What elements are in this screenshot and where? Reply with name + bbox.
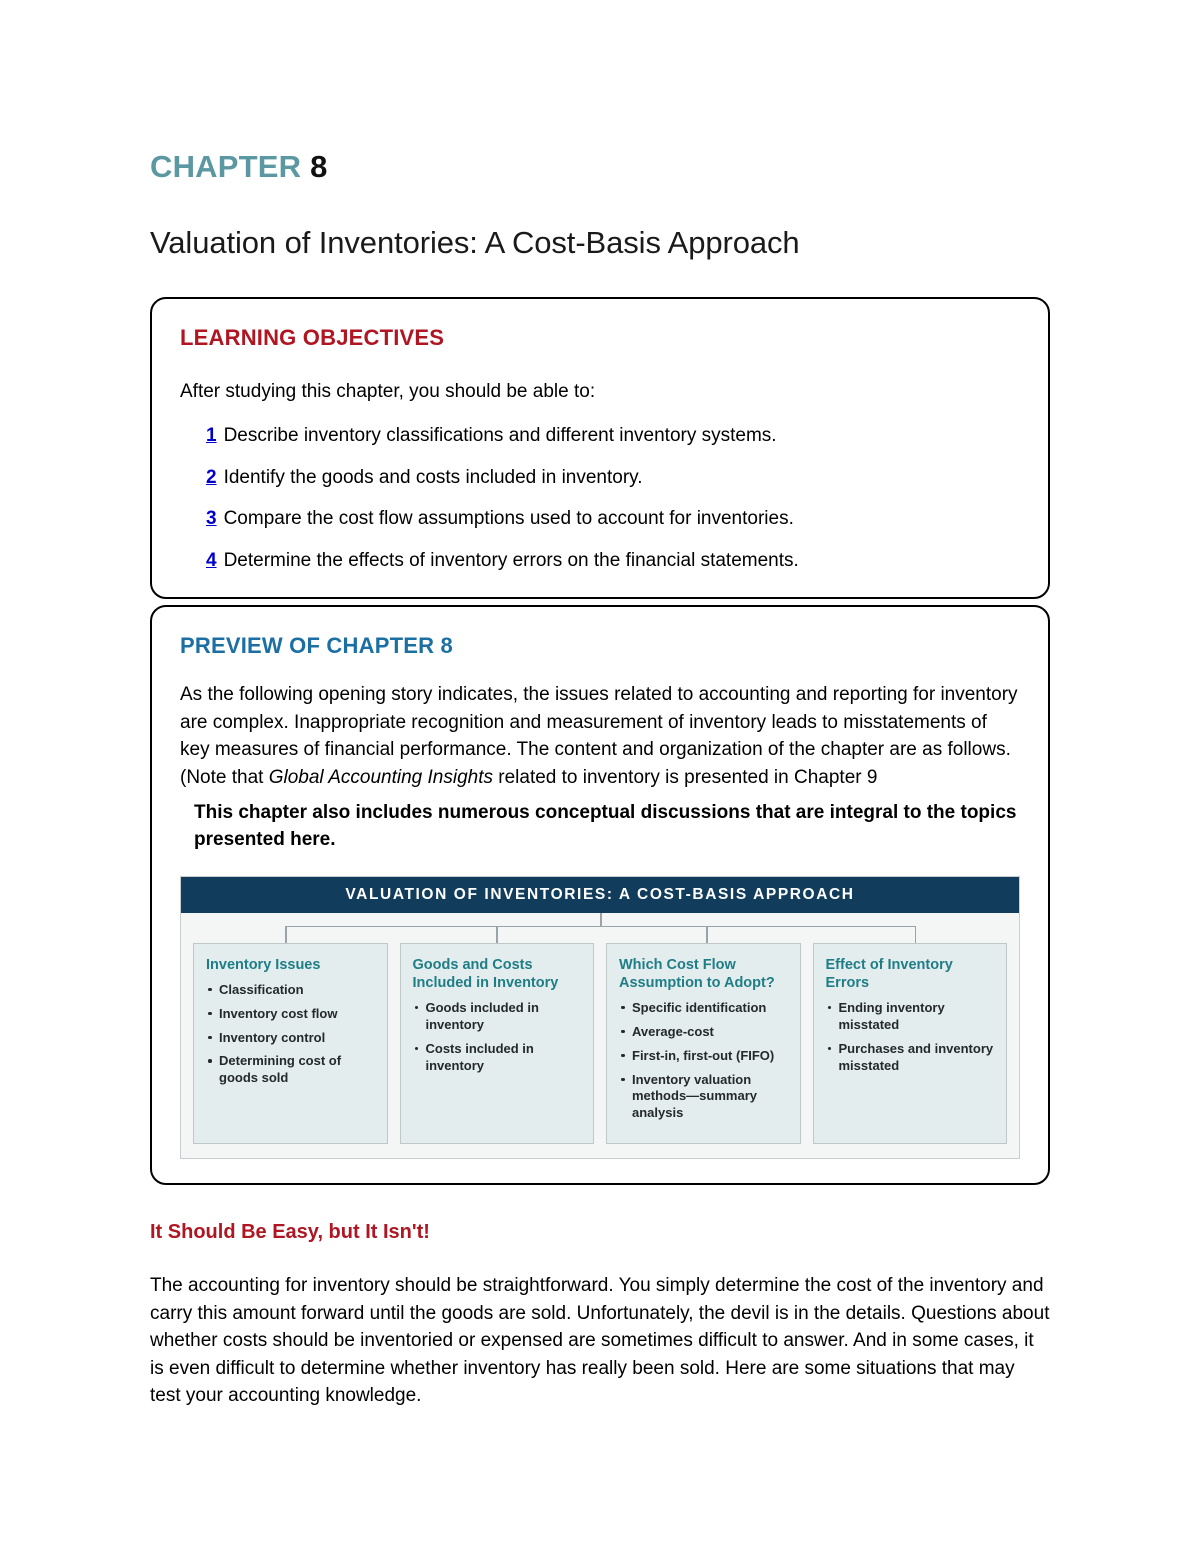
diagram-box-title: Goods and Costs Included in Inventory [413, 956, 582, 992]
diagram-box-list: Goods included in inventory Costs includ… [413, 1000, 582, 1075]
diagram-box-cost-flow-assumption: Which Cost Flow Assumption to Adopt? Spe… [606, 943, 801, 1145]
page-title: Valuation of Inventories: A Cost-Basis A… [150, 224, 1050, 261]
connector-stem [600, 913, 602, 927]
preview-bold-note: This chapter also includes numerous conc… [194, 799, 1020, 854]
diagram-box-inventory-errors: Effect of Inventory Errors Ending invent… [813, 943, 1008, 1145]
diagram-box-list: Specific identification Average-cost Fir… [619, 1000, 788, 1122]
chapter-flow-diagram: VALUATION OF INVENTORIES: A COST-BASIS A… [180, 876, 1020, 1160]
connector-horizontal-bar [285, 926, 915, 928]
list-item: Determining cost of goods sold [206, 1053, 375, 1087]
learning-objectives-panel: LEARNING OBJECTIVES After studying this … [150, 297, 1050, 599]
chapter-number: 8 [310, 149, 327, 184]
list-item: Costs included in inventory [413, 1041, 582, 1075]
diagram-box-title: Which Cost Flow Assumption to Adopt? [619, 956, 788, 992]
learning-objectives-intro: After studying this chapter, you should … [180, 379, 1020, 405]
list-item: Inventory valuation methods—summary anal… [619, 1072, 788, 1123]
chapter-label: CHAPTER [150, 149, 301, 184]
preview-text-italic: Global Accounting Insights [269, 767, 493, 788]
list-item: Classification [206, 982, 375, 999]
list-item: Ending inventory misstated [826, 1000, 995, 1034]
connector-drop-2 [496, 926, 498, 943]
objective-text: Describe inventory classifications and d… [224, 423, 777, 449]
diagram-box-list: Ending inventory misstated Purchases and… [826, 1000, 995, 1075]
connector-drop-4 [915, 926, 917, 943]
document-page: CHAPTER 8 Valuation of Inventories: A Co… [0, 0, 1200, 1553]
diagram-header-bar: VALUATION OF INVENTORIES: A COST-BASIS A… [181, 877, 1019, 913]
list-item: Goods included in inventory [413, 1000, 582, 1034]
learning-objective-item: 2 Identify the goods and costs included … [206, 465, 1020, 491]
list-item: Purchases and inventory misstated [826, 1041, 995, 1075]
list-item: Specific identification [619, 1000, 788, 1017]
diagram-box-list: Classification Inventory cost flow Inven… [206, 982, 375, 1087]
learning-objective-item: 1 Describe inventory classifications and… [206, 423, 1020, 449]
connector-drop-1 [285, 926, 287, 943]
diagram-box-title: Inventory Issues [206, 956, 375, 974]
objective-number: 3 [206, 506, 217, 532]
chapter-heading: CHAPTER 8 [150, 150, 1050, 184]
objective-text: Compare the cost flow assumptions used t… [224, 506, 794, 532]
learning-objectives-list: 1 Describe inventory classifications and… [180, 423, 1020, 574]
diagram-box-inventory-issues: Inventory Issues Classification Inventor… [193, 943, 388, 1145]
list-item: Inventory control [206, 1030, 375, 1047]
preview-heading: PREVIEW OF CHAPTER 8 [180, 633, 1020, 659]
objective-text: Identify the goods and costs included in… [224, 465, 643, 491]
connector-drop-3 [706, 926, 708, 943]
list-item: Average-cost [619, 1024, 788, 1041]
objective-number: 1 [206, 423, 217, 449]
preview-panel: PREVIEW OF CHAPTER 8 As the following op… [150, 605, 1050, 1185]
story-paragraph: The accounting for inventory should be s… [150, 1272, 1050, 1410]
objective-text: Determine the effects of inventory error… [224, 548, 799, 574]
list-item: Inventory cost flow [206, 1006, 375, 1023]
learning-objective-item: 3 Compare the cost flow assumptions used… [206, 506, 1020, 532]
objective-number: 2 [206, 465, 217, 491]
objective-number: 4 [206, 548, 217, 574]
diagram-connectors [191, 913, 1009, 943]
diagram-box-goods-and-costs: Goods and Costs Included in Inventory Go… [400, 943, 595, 1145]
learning-objectives-heading: LEARNING OBJECTIVES [180, 325, 1020, 351]
preview-text-part2: related to inventory is presented in Cha… [493, 767, 877, 788]
preview-paragraph: As the following opening story indicates… [180, 681, 1020, 790]
learning-objective-item: 4 Determine the effects of inventory err… [206, 548, 1020, 574]
story-heading: It Should Be Easy, but It Isn't! [150, 1221, 1050, 1244]
list-item: First-in, first-out (FIFO) [619, 1048, 788, 1065]
diagram-boxes: Inventory Issues Classification Inventor… [181, 943, 1019, 1145]
diagram-box-title: Effect of Inventory Errors [826, 956, 995, 992]
